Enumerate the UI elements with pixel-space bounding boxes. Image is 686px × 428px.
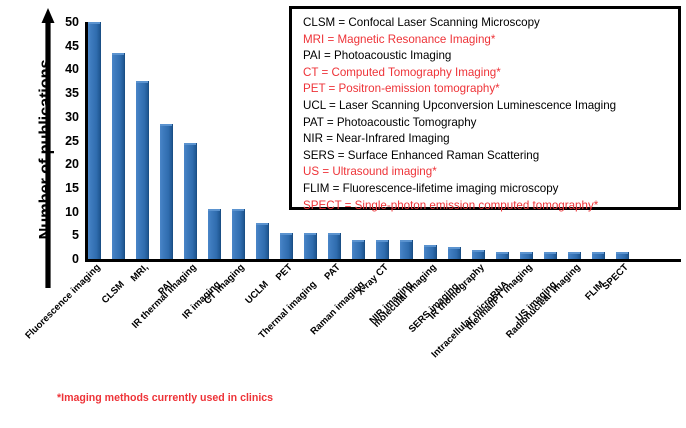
bar [88,22,101,259]
footnote-clinical-methods: *Imaging methods currently used in clini… [57,392,273,404]
legend-line: NIR = Near-Infrared Imaging [303,131,678,148]
legend-line: UCL = Laser Scanning Upconversion Lumine… [303,98,678,115]
bar-top-highlight [112,53,124,55]
bar [544,252,557,259]
legend-line: FLIM = Fluorescence-lifetime imaging mic… [303,181,678,198]
legend-line: MRI = Magnetic Resonance Imaging* [303,32,678,49]
bar-top-highlight [136,81,148,83]
bar [136,81,149,259]
y-tick-label: 5 [72,229,79,242]
y-tick-label: 15 [65,182,79,195]
bar [568,252,581,259]
bar-top-highlight [304,233,316,235]
bar [520,252,533,259]
bar [424,245,437,259]
bar [304,233,317,259]
bar [328,233,341,259]
bar [400,240,413,259]
bar-top-highlight [184,143,196,145]
y-tick-label: 40 [65,63,79,76]
bar-top-highlight [256,223,268,225]
bar-top-highlight [328,233,340,235]
bar-top-highlight [280,233,292,235]
bar-top-highlight [568,252,580,254]
bar-top-highlight [496,252,508,254]
legend-line: PET = Positron-emission tomography* [303,81,678,98]
y-tick-label: 45 [65,39,79,52]
y-tick-label: 35 [65,87,79,100]
y-axis-tick-labels: 05101520253035404550 [52,22,82,261]
bar [184,143,197,259]
bar-top-highlight [232,209,244,211]
legend-line: US = Ultrasound imaging* [303,164,678,181]
legend-line: CLSM = Confocal Laser Scanning Microscop… [303,15,678,32]
x-axis-tick-labels: Fluorescence imagingCLSMMRI,PAIIR therma… [85,262,686,372]
bar [232,209,245,259]
bar-top-highlight [160,124,172,126]
bar-top-highlight [424,245,436,247]
bar-top-highlight [352,240,364,242]
legend-line: SERS = Surface Enhanced Raman Scattering [303,148,678,165]
bar [592,252,605,259]
bar [448,247,461,259]
y-tick-label: 25 [65,134,79,147]
abbreviation-legend-box: CLSM = Confocal Laser Scanning Microscop… [289,6,681,210]
bar-top-highlight [448,247,460,249]
y-tick-label: 0 [72,253,79,266]
bar [256,223,269,259]
bar [280,233,293,259]
bar-top-highlight [616,252,628,254]
bar [472,250,485,259]
y-tick-label: 50 [65,16,79,29]
bar-top-highlight [376,240,388,242]
bar [496,252,509,259]
bar-top-highlight [592,252,604,254]
bar-top-highlight [400,240,412,242]
bar-top-highlight [520,252,532,254]
y-tick-label: 10 [65,205,79,218]
y-tick-label: 30 [65,111,79,124]
bar-top-highlight [472,250,484,252]
bar-top-highlight [208,209,220,211]
legend-line: PAI = Photoacoustic Imaging [303,48,678,65]
bar [616,252,629,259]
legend-line: SPECT = Single-photon emission computed … [303,198,678,215]
bar [112,53,125,259]
bar [160,124,173,259]
bar [208,209,221,259]
bar-top-highlight [544,252,556,254]
legend-line: CT = Computed Tomography Imaging* [303,65,678,82]
bar [352,240,365,259]
bar [376,240,389,259]
y-tick-label: 20 [65,158,79,171]
legend-line: PAT = Photoacoustic Tomography [303,115,678,132]
bar-top-highlight [88,22,100,24]
